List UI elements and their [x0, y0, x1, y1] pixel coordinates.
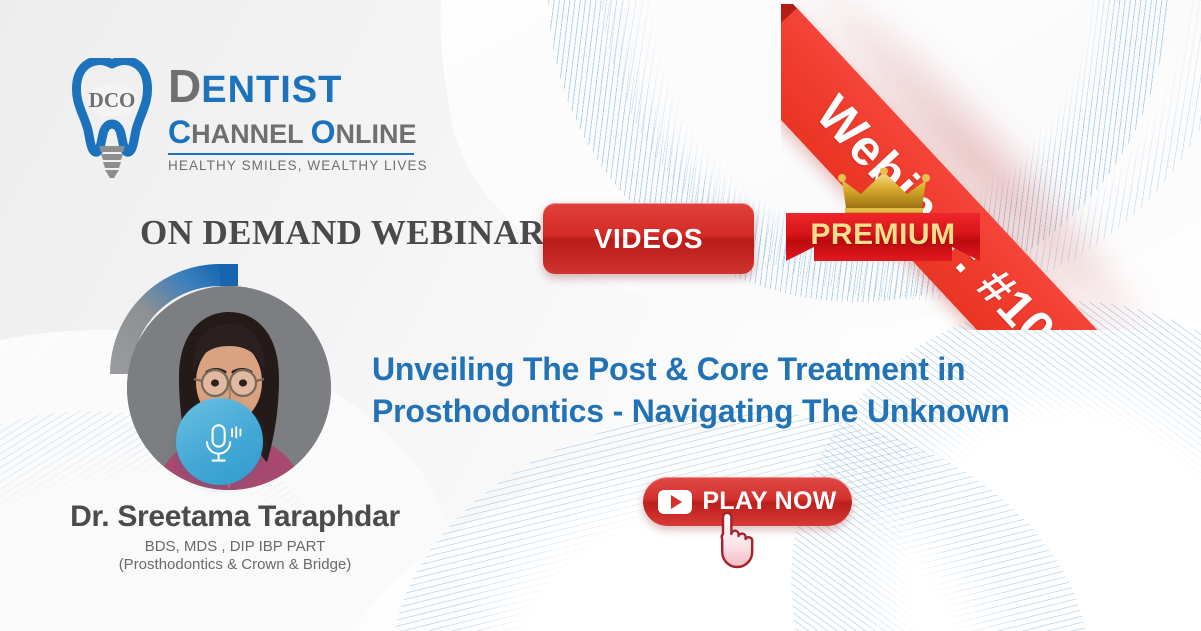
brand-logo-hannel: HANNEL: [191, 119, 311, 149]
brand-logo-line-1: DENTIST: [168, 62, 418, 114]
tooth-implant-icon: DCO: [68, 58, 158, 178]
hand-pointer-icon: [705, 512, 757, 570]
webinar-title: Unveiling The Post & Core Treatment in P…: [372, 348, 1062, 432]
on-demand-webinar-label: ON DEMAND WEBINAR: [140, 213, 545, 253]
brand-logo-d: D: [168, 60, 201, 112]
webinar-banner: Webinar: #1075 DCO DENTIST CHANNEL ONLIN…: [0, 0, 1201, 631]
svg-text:DCO: DCO: [89, 88, 136, 112]
brand-tagline: HEALTHY SMILES, WEALTHY LIVES: [168, 158, 418, 173]
brand-logo-nline: NLINE: [336, 119, 417, 149]
speaker-degrees: BDS, MDS , DIP IBP PART: [40, 538, 430, 555]
brand-logo-entist: ENTIST: [201, 69, 342, 111]
premium-badge: PREMIUM: [786, 168, 980, 273]
brand-logo-o: O: [311, 114, 336, 150]
speaker-name: Dr. Sreetama Taraphdar: [40, 500, 430, 534]
webinar-title-line-1: Unveiling The Post & Core Treatment in: [372, 348, 1062, 390]
brand-logo-text: DENTIST CHANNEL ONLINE HEALTHY SMILES, W…: [168, 62, 418, 173]
webinar-title-line-2: Prosthodontics - Navigating The Unknown: [372, 390, 1062, 432]
brand-logo-divider: [168, 153, 414, 155]
brand-logo-line-2: CHANNEL ONLINE: [168, 115, 418, 151]
videos-button[interactable]: VIDEOS: [543, 203, 754, 274]
youtube-play-icon: [658, 490, 692, 514]
crown-icon: [838, 168, 930, 218]
brand-logo[interactable]: DCO DENTIST CHANNEL ONLINE HEALTHY SMILE…: [68, 58, 413, 178]
speaker-details: Dr. Sreetama Taraphdar BDS, MDS , DIP IB…: [40, 500, 430, 573]
premium-label: PREMIUM: [786, 213, 980, 257]
corner-ribbon: Webinar: #1075: [781, 0, 1201, 330]
brand-logo-c: C: [168, 114, 191, 150]
microphone-icon: [194, 416, 246, 468]
microphone-badge: [176, 398, 263, 485]
speaker-specialty: (Prosthodontics & Crown & Bridge): [40, 556, 430, 573]
